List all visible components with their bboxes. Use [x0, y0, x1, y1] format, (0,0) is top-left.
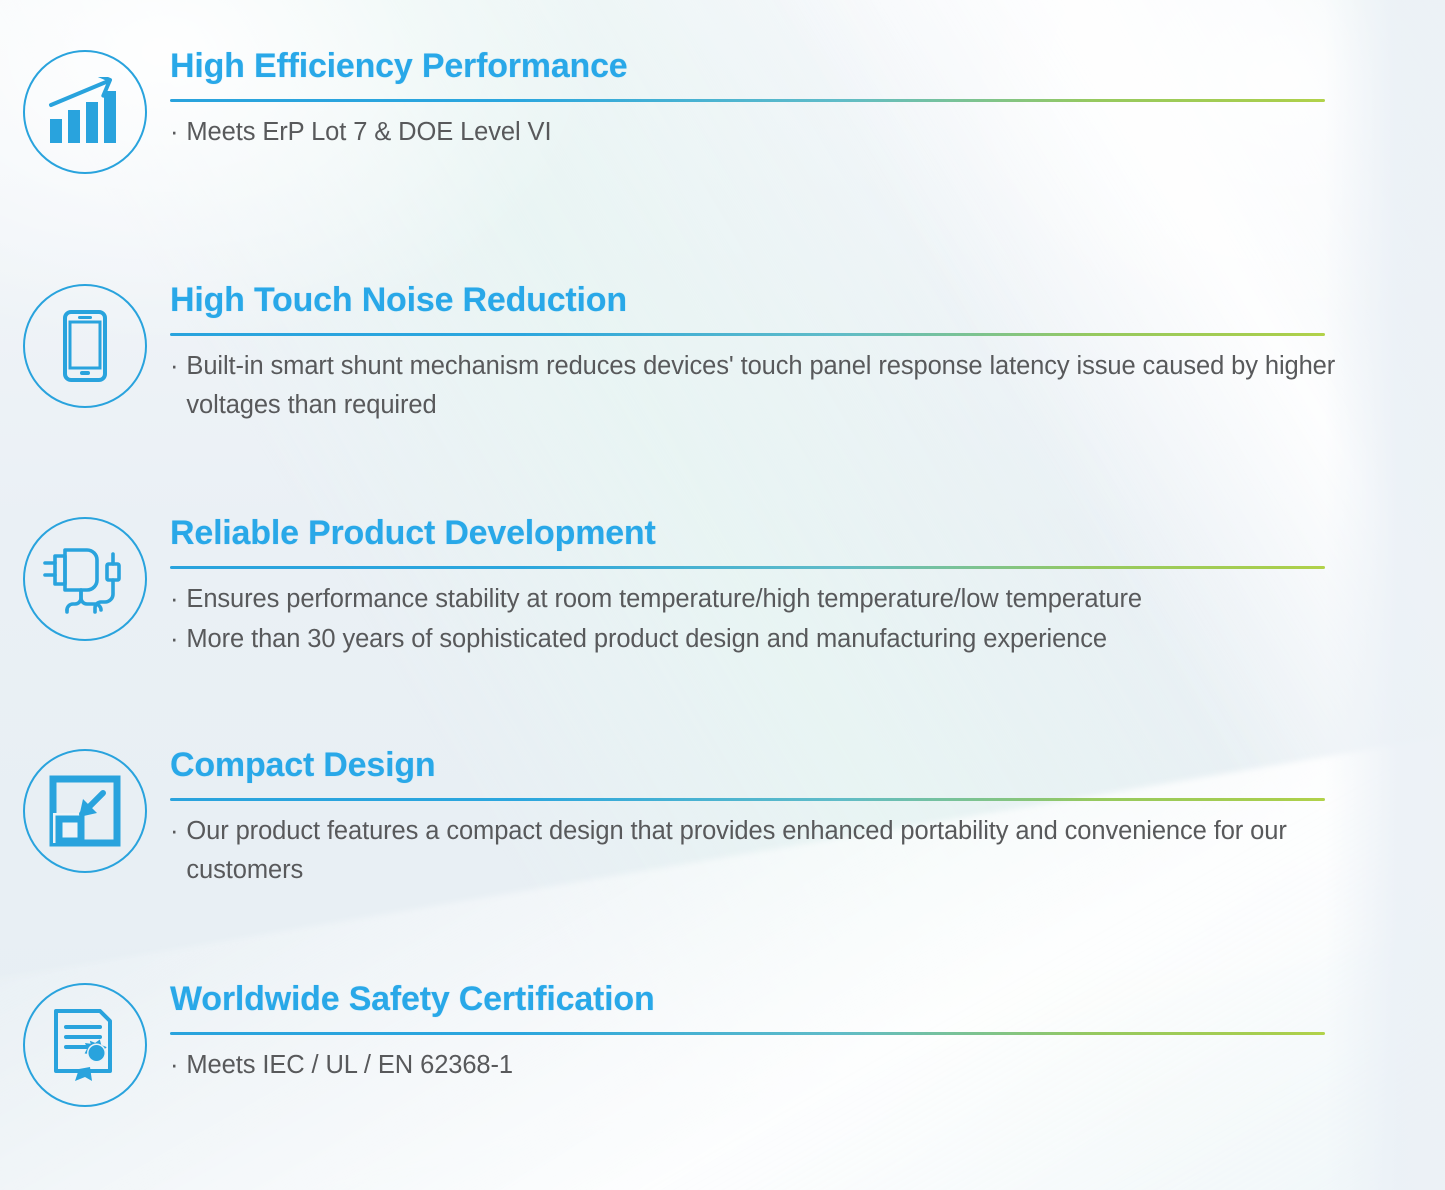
- bullet-marker: ·: [170, 580, 178, 618]
- feature-bullet-list: · Meets ErP Lot 7 & DOE Level VI: [170, 113, 1367, 151]
- feature-text-cell: Worldwide Safety Certification · Meets I…: [170, 981, 1445, 1086]
- bullet-text: Meets ErP Lot 7 & DOE Level VI: [186, 113, 1367, 151]
- feature-title: High Touch Noise Reduction: [170, 282, 1367, 319]
- compact-resize-icon: [23, 749, 147, 873]
- smartphone-icon: [23, 284, 147, 408]
- feature-text-cell: High Touch Noise Reduction · Built-in sm…: [170, 282, 1445, 425]
- feature-bullet: · More than 30 years of sophisticated pr…: [170, 620, 1367, 658]
- bullet-text: Ensures performance stability at room te…: [186, 580, 1367, 618]
- feature-bullet: · Ensures performance stability at room …: [170, 580, 1367, 618]
- feature-row: High Efficiency Performance · Meets ErP …: [0, 48, 1445, 174]
- feature-bullet-list: · Built-in smart shunt mechanism reduces…: [170, 347, 1367, 424]
- feature-icon-cell: [0, 282, 170, 408]
- feature-row: Compact Design · Our product features a …: [0, 747, 1445, 890]
- feature-icon-cell: [0, 48, 170, 174]
- feature-title: Reliable Product Development: [170, 515, 1367, 552]
- feature-bullet-list: · Ensures performance stability at room …: [170, 580, 1367, 658]
- bullet-marker: ·: [170, 812, 178, 850]
- feature-text-cell: Compact Design · Our product features a …: [170, 747, 1445, 890]
- feature-bullet-list: · Meets IEC / UL / EN 62368-1: [170, 1046, 1367, 1084]
- feature-icon-cell: [0, 747, 170, 873]
- feature-title: Worldwide Safety Certification: [170, 981, 1367, 1018]
- feature-divider: [170, 333, 1325, 336]
- feature-text-cell: High Efficiency Performance · Meets ErP …: [170, 48, 1445, 153]
- feature-row: High Touch Noise Reduction · Built-in sm…: [0, 282, 1445, 425]
- feature-bullet: · Meets IEC / UL / EN 62368-1: [170, 1046, 1367, 1084]
- feature-icon-cell: [0, 515, 170, 641]
- feature-divider: [170, 1032, 1325, 1035]
- feature-row: Reliable Product Development · Ensures p…: [0, 515, 1445, 659]
- feature-title: High Efficiency Performance: [170, 48, 1367, 85]
- feature-divider: [170, 798, 1325, 801]
- bullet-marker: ·: [170, 1046, 178, 1084]
- feature-title: Compact Design: [170, 747, 1367, 784]
- feature-bullet-list: · Our product features a compact design …: [170, 812, 1367, 889]
- certificate-seal-icon: [23, 983, 147, 1107]
- feature-divider: [170, 99, 1325, 102]
- bullet-marker: ·: [170, 347, 178, 385]
- feature-bullet: · Meets ErP Lot 7 & DOE Level VI: [170, 113, 1367, 151]
- bullet-marker: ·: [170, 113, 178, 151]
- bar-chart-growth-icon: [23, 50, 147, 174]
- bullet-text: More than 30 years of sophisticated prod…: [186, 620, 1367, 658]
- bullet-text: Our product features a compact design th…: [186, 812, 1367, 889]
- bullet-text: Built-in smart shunt mechanism reduces d…: [186, 347, 1367, 424]
- feature-divider: [170, 566, 1325, 569]
- bullet-text: Meets IEC / UL / EN 62368-1: [186, 1046, 1367, 1084]
- feature-row: Worldwide Safety Certification · Meets I…: [0, 981, 1445, 1107]
- power-adapter-icon: [23, 517, 147, 641]
- feature-bullet: · Built-in smart shunt mechanism reduces…: [170, 347, 1367, 424]
- bullet-marker: ·: [170, 620, 178, 658]
- feature-bullet: · Our product features a compact design …: [170, 812, 1367, 889]
- feature-icon-cell: [0, 981, 170, 1107]
- feature-text-cell: Reliable Product Development · Ensures p…: [170, 515, 1445, 659]
- feature-highlights-page: High Efficiency Performance · Meets ErP …: [0, 0, 1445, 1190]
